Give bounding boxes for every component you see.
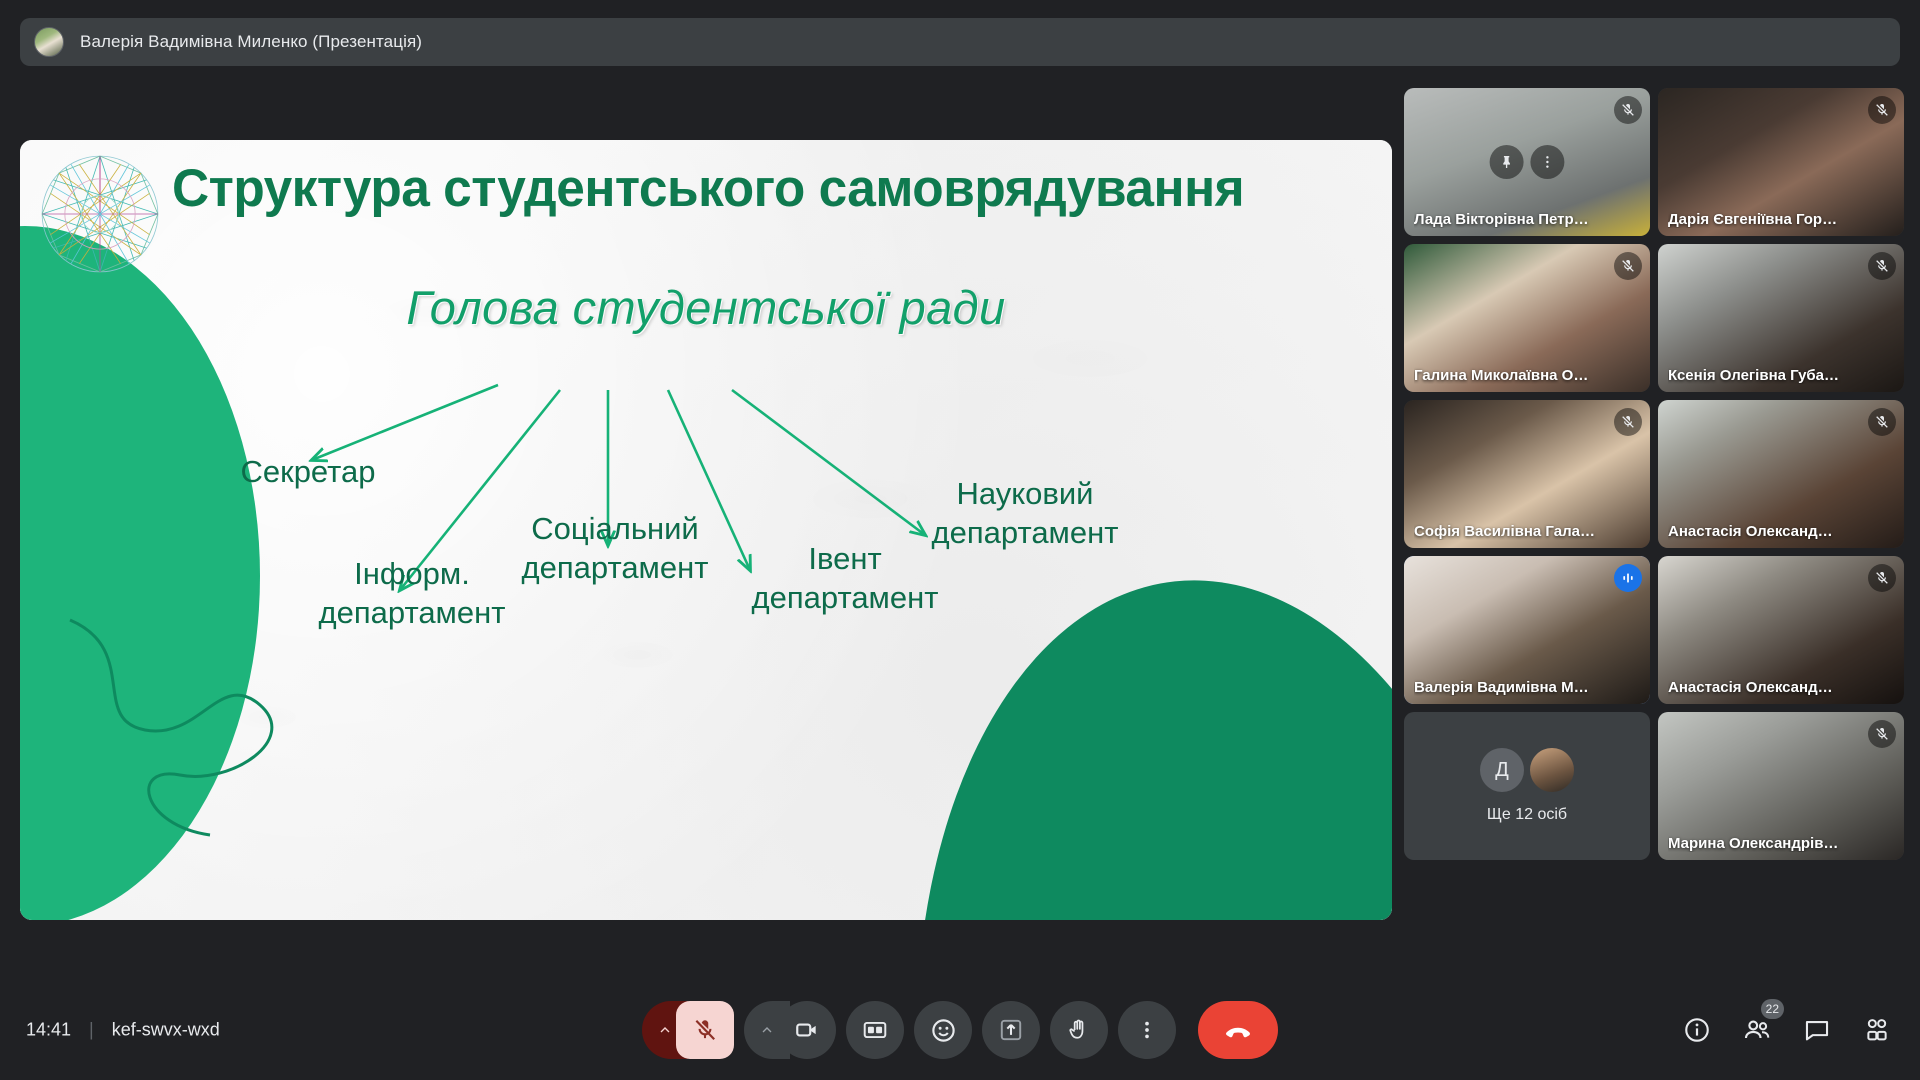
clock-label: 14:41 <box>26 1020 71 1041</box>
mic-off-icon <box>1614 408 1642 436</box>
present-screen-button[interactable] <box>982 1001 1040 1059</box>
node-scientific-department: Науковий департамент <box>900 475 1150 553</box>
more-options-icon[interactable] <box>1530 145 1564 179</box>
activities-button[interactable] <box>1860 1013 1894 1047</box>
meta-separator: | <box>89 1020 94 1041</box>
chat-button[interactable] <box>1800 1013 1834 1047</box>
presentation-slide: Структура студентського самоврядування Г… <box>20 140 1392 920</box>
participant-name: Лада Вікторівна Петр… <box>1414 211 1620 228</box>
camera-toggle-button[interactable] <box>778 1001 836 1059</box>
mic-control-group[interactable] <box>642 1001 734 1059</box>
participant-name: Дарія Євгеніївна Гор… <box>1668 211 1874 228</box>
mic-off-icon <box>1868 408 1896 436</box>
participant-tile[interactable]: Софія Василівна Гала… <box>1404 400 1650 548</box>
shared-screen-stage[interactable]: Структура студентського самоврядування Г… <box>20 140 1392 920</box>
meeting-details-button[interactable] <box>1680 1013 1714 1047</box>
more-participants-tile[interactable]: Д Ще 12 осіб <box>1404 712 1650 860</box>
right-action-cluster: 22 <box>1680 1013 1894 1047</box>
participant-tile[interactable]: Анастасія Олександ… <box>1658 556 1904 704</box>
participant-tile[interactable]: Анастасія Олександ… <box>1658 400 1904 548</box>
more-options-button[interactable] <box>1118 1001 1176 1059</box>
controls-cluster <box>642 1001 1278 1059</box>
mic-off-icon <box>1868 720 1896 748</box>
mic-off-icon <box>1868 564 1896 592</box>
pin-icon[interactable] <box>1490 145 1524 179</box>
participant-name: Марина Олександрів… <box>1668 835 1874 852</box>
google-meet-window: Валерія Вадимівна Миленко (Презентація) <box>0 0 1920 1080</box>
captions-button[interactable] <box>846 1001 904 1059</box>
mic-off-icon <box>1614 96 1642 124</box>
participant-tile[interactable]: Марина Олександрів… <box>1658 712 1904 860</box>
presenter-label: Валерія Вадимівна Миленко (Презентація) <box>80 32 422 52</box>
participant-count-badge: 22 <box>1761 999 1784 1019</box>
meeting-code-label: kef-swvx-wxd <box>112 1020 220 1041</box>
overflow-avatars: Д <box>1480 748 1574 792</box>
participant-name: Галина Миколаївна О… <box>1414 367 1620 384</box>
mic-off-icon <box>1614 252 1642 280</box>
meeting-control-bar: 14:41 | kef-swvx-wxd <box>0 980 1920 1080</box>
participant-name: Анастасія Олександ… <box>1668 523 1874 540</box>
more-participants-label: Ще 12 осіб <box>1487 806 1567 824</box>
node-secretary: Секретар <box>198 453 418 492</box>
presenter-avatar <box>34 27 64 57</box>
leave-call-button[interactable] <box>1198 1001 1278 1059</box>
mic-toggle-button[interactable] <box>676 1001 734 1059</box>
participant-tile[interactable]: Ксенія Олегівна Губа… <box>1658 244 1904 392</box>
participant-name: Анастасія Олександ… <box>1668 679 1874 696</box>
participant-name: Ксенія Олегівна Губа… <box>1668 367 1874 384</box>
camera-control-group[interactable] <box>744 1001 836 1059</box>
overflow-initial-avatar: Д <box>1480 748 1524 792</box>
node-social-department: Соціальний департамент <box>490 510 740 588</box>
participant-tile[interactable]: Лада Вікторівна Петр… <box>1404 88 1650 236</box>
overflow-photo-avatar <box>1530 748 1574 792</box>
mic-off-icon <box>1868 96 1896 124</box>
speaking-indicator-icon <box>1614 564 1642 592</box>
participant-tile[interactable]: Галина Миколаївна О… <box>1404 244 1650 392</box>
participants-button[interactable]: 22 <box>1740 1013 1774 1047</box>
participant-tile-active-speaker[interactable]: Валерія Вадимівна М… <box>1404 556 1650 704</box>
participant-name: Валерія Вадимівна М… <box>1414 679 1620 696</box>
reactions-button[interactable] <box>914 1001 972 1059</box>
presenter-banner: Валерія Вадимівна Миленко (Презентація) <box>20 18 1900 66</box>
participant-tile-grid: Лада Вікторівна Петр… Дарія Євгеніївна Г… <box>1404 88 1904 860</box>
participant-name: Софія Василівна Гала… <box>1414 523 1620 540</box>
raise-hand-button[interactable] <box>1050 1001 1108 1059</box>
mic-off-icon <box>1868 252 1896 280</box>
meeting-info: 14:41 | kef-swvx-wxd <box>26 1020 220 1041</box>
participant-tile[interactable]: Дарія Євгеніївна Гор… <box>1658 88 1904 236</box>
